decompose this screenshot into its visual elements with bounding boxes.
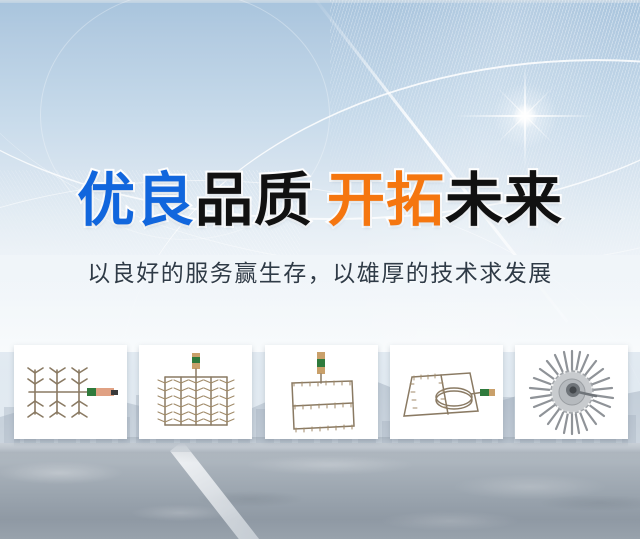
headline-part-1: 优良 [77, 166, 195, 234]
ring-frame-rack-icon [396, 359, 496, 425]
headline-part-3: 开拓 [327, 166, 445, 234]
promo-banner: 优良品质开拓未来 以良好的服务赢生存，以雄厚的技术求发展 [0, 0, 640, 539]
product-card-row [14, 345, 628, 439]
headline-part-2: 品质 [195, 166, 313, 234]
comb-tooth-rack-hanger-icon [21, 357, 121, 427]
double-row-spike-rack-icon [153, 351, 239, 433]
page-title: 优良品质开拓未来 [0, 168, 640, 232]
product-card[interactable] [265, 345, 378, 439]
flat-frame-rack-icon [280, 350, 362, 434]
ground-surface [0, 443, 640, 539]
headline-part-4: 未来 [445, 166, 563, 234]
radial-star-rack-icon [526, 348, 618, 436]
product-card[interactable] [139, 345, 252, 439]
page-subtitle: 以良好的服务赢生存，以雄厚的技术求发展 [0, 258, 640, 290]
top-edge-strip [0, 0, 640, 3]
product-card[interactable] [14, 345, 127, 439]
product-card[interactable] [515, 345, 628, 439]
product-card[interactable] [390, 345, 503, 439]
